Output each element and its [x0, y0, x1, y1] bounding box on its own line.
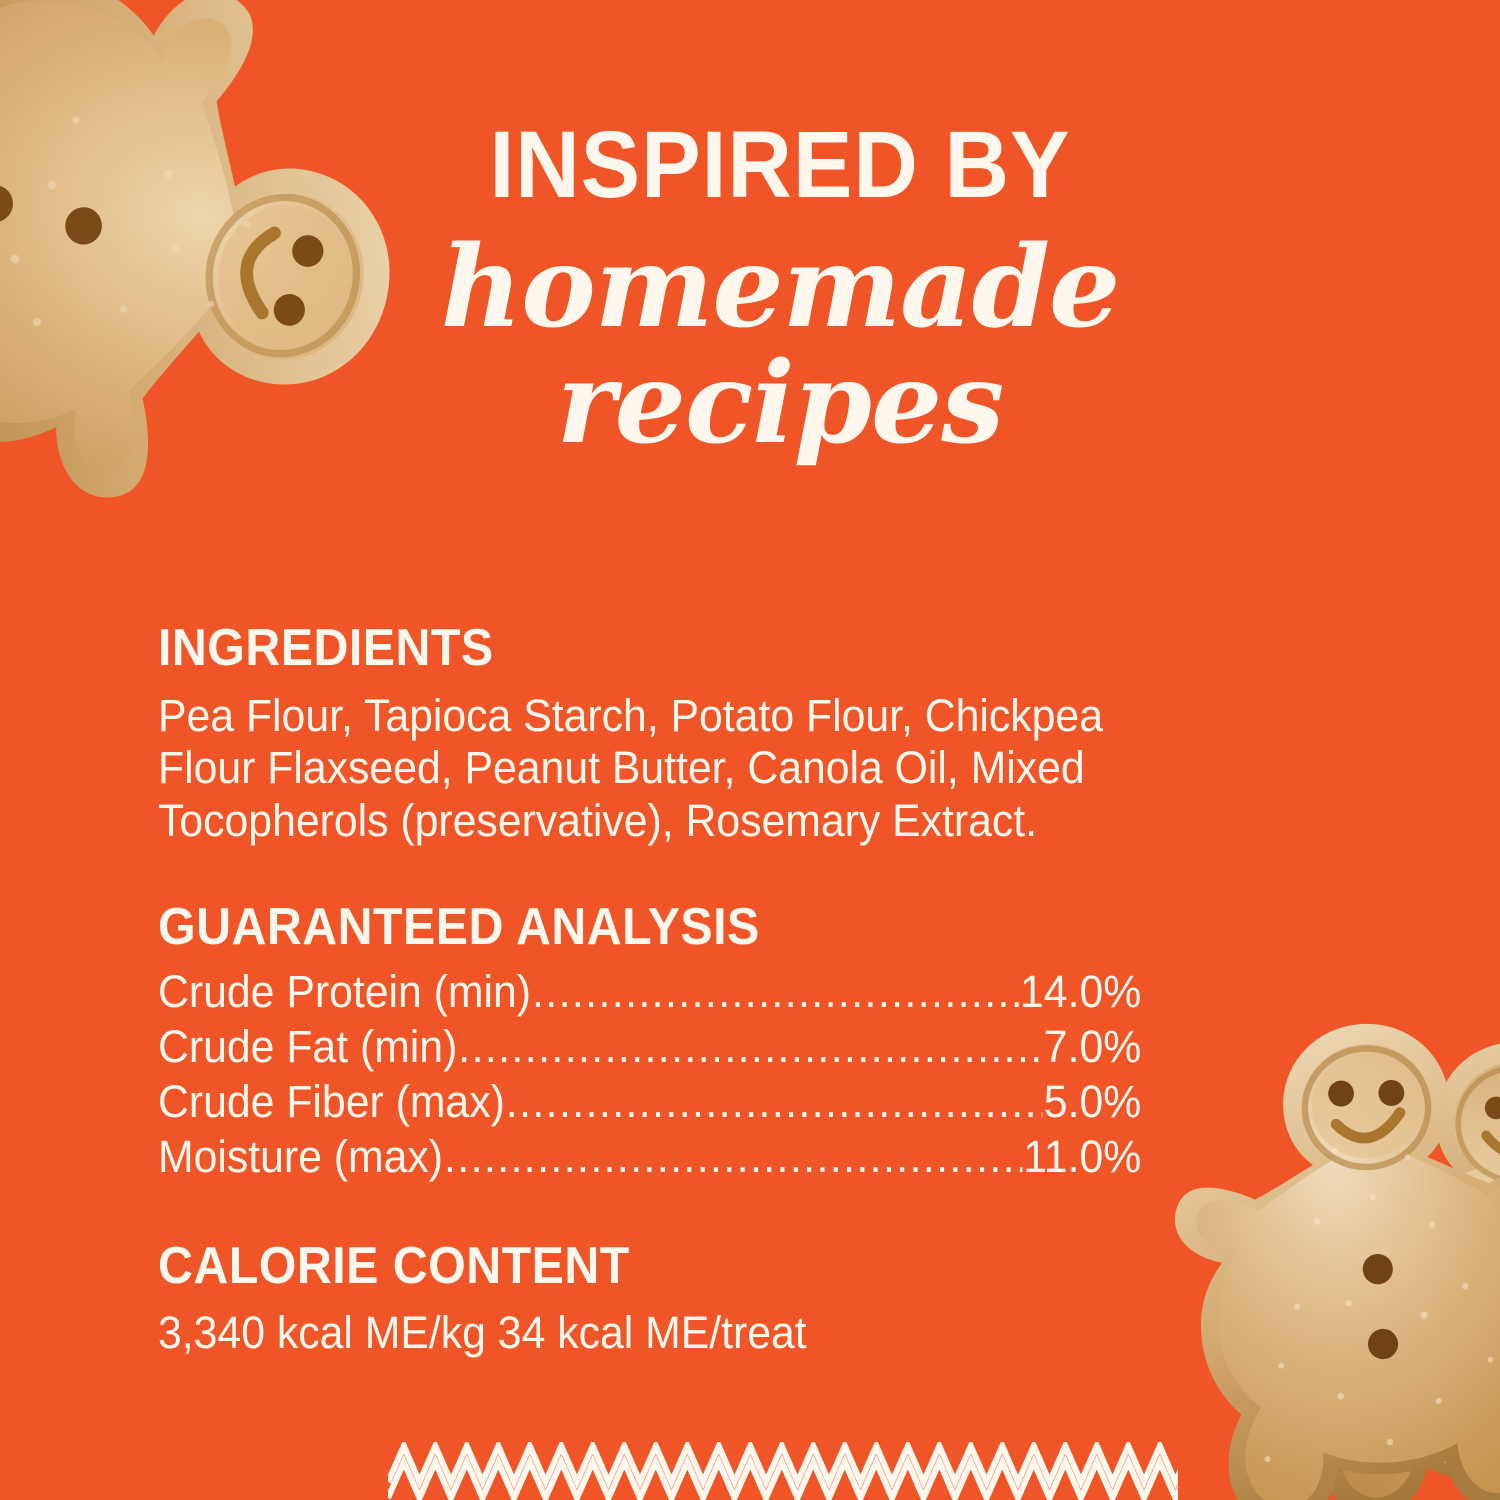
cookie-bottom-right-back — [1264, 1009, 1500, 1500]
headline-block: INSPIRED BY homemade recipes — [330, 120, 1230, 460]
analysis-value: 7.0% — [1044, 1020, 1141, 1075]
analysis-value: 5.0% — [1044, 1075, 1141, 1130]
guaranteed-analysis-section: GUARANTEED ANALYSIS Crude Protein (min).… — [158, 899, 1158, 1185]
calorie-content-heading: CALORIE CONTENT — [158, 1238, 1088, 1294]
calorie-content-body: 3,340 kcal ME/kg 34 kcal ME/treat — [158, 1307, 1108, 1359]
analysis-label: Crude Protein (min) — [158, 965, 531, 1020]
gingerbread-man-icon — [1145, 998, 1500, 1500]
guaranteed-analysis-heading: GUARANTEED ANALYSIS — [158, 899, 1088, 955]
chevron-zigzag-pattern — [388, 1442, 1178, 1500]
cookie-bottom-right-front — [1145, 998, 1500, 1500]
analysis-leader-dots: ........................................… — [444, 1130, 1022, 1185]
calorie-content-section: CALORIE CONTENT 3,340 kcal ME/kg 34 kcal… — [158, 1238, 1158, 1358]
nutrition-panel: INGREDIENTS Pea Flour, Tapioca Starch, P… — [158, 620, 1158, 1359]
analysis-leader-dots: ........................................… — [532, 965, 1019, 1020]
analysis-row: Crude Fiber (max).......................… — [158, 1075, 1141, 1130]
analysis-label: Crude Fiber (max) — [158, 1075, 505, 1130]
gingerbread-man-icon — [1264, 1009, 1500, 1500]
analysis-leader-dots: ........................................… — [506, 1075, 1043, 1130]
analysis-label: Moisture (max) — [158, 1130, 443, 1185]
headline-recipes: recipes — [330, 348, 1230, 460]
analysis-value: 14.0% — [1020, 965, 1141, 1020]
package-label-panel: INSPIRED BY homemade recipes INGREDIENTS… — [0, 0, 1500, 1500]
headline-inspired-by: INSPIRED BY — [357, 120, 1203, 210]
analysis-leader-dots: ........................................… — [458, 1020, 1043, 1075]
ingredients-section: INGREDIENTS Pea Flour, Tapioca Starch, P… — [158, 620, 1158, 847]
analysis-label: Crude Fat (min) — [158, 1020, 457, 1075]
analysis-value: 11.0% — [1023, 1130, 1141, 1185]
analysis-row: Crude Fat (min).........................… — [158, 1020, 1141, 1075]
analysis-row: Crude Protein (min).....................… — [158, 965, 1141, 1020]
ingredients-body: Pea Flour, Tapioca Starch, Potato Flour,… — [158, 690, 1108, 847]
headline-homemade: homemade — [330, 232, 1230, 344]
analysis-row: Moisture (max)..........................… — [158, 1130, 1141, 1185]
guaranteed-analysis-rows: Crude Protein (min).....................… — [158, 965, 1158, 1185]
ingredients-heading: INGREDIENTS — [158, 620, 1088, 676]
